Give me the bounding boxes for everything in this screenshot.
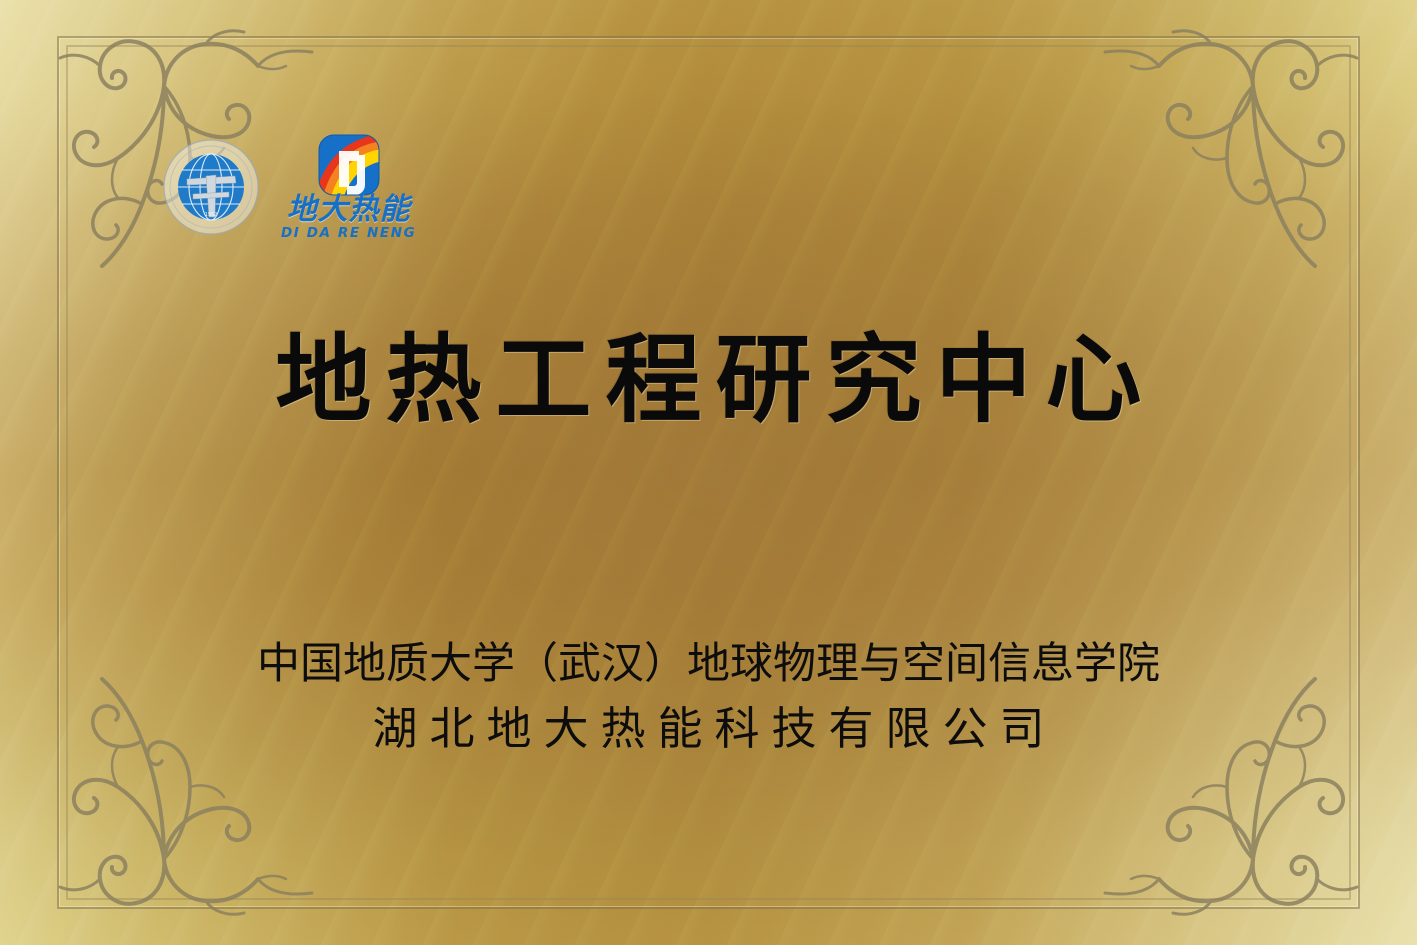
didareneng-mark-icon <box>283 133 415 199</box>
company-name-en: DI DA RE NENG <box>281 227 416 241</box>
subtitle-line-2: 湖北地大热能科技有限公司 <box>0 704 1417 754</box>
award-plaque: 1952 <box>0 0 1417 945</box>
company-logo: 地大热能 DI DA RE NENG <box>281 133 416 241</box>
university-seal-logo: 1952 <box>163 139 259 235</box>
logo-row: 1952 <box>163 133 416 241</box>
page-title: 地热工程研究中心 <box>0 330 1417 432</box>
company-name-cn: 地大热能 <box>287 195 411 225</box>
svg-text:1952: 1952 <box>205 212 218 218</box>
corner-flourish-top-right-icon <box>1103 8 1403 270</box>
globe-seal-icon: 1952 <box>163 139 259 235</box>
subtitle-line-1: 中国地质大学（武汉）地球物理与空间信息学院 <box>0 640 1417 688</box>
